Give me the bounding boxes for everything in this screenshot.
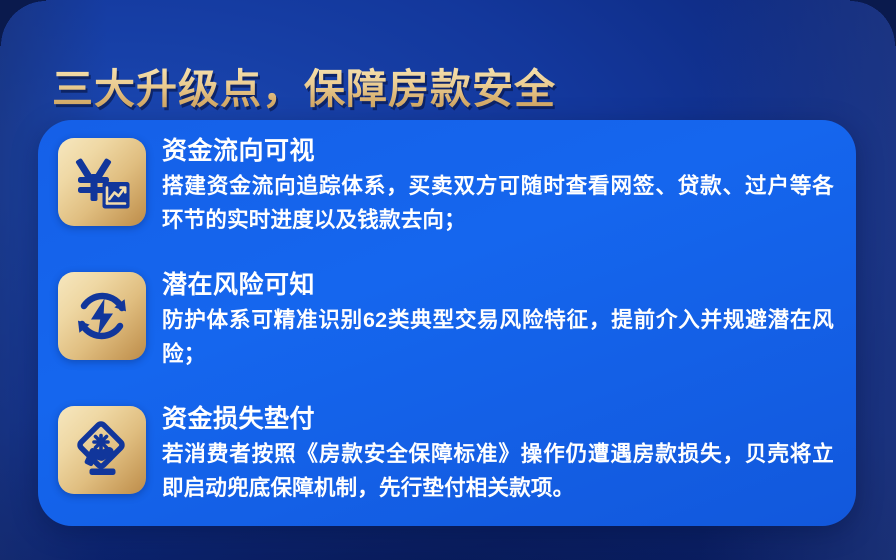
risk-bolt-cycle-icon (58, 272, 146, 360)
feature-heading: 潜在风险可知 (162, 268, 840, 302)
feature-row: 潜在风险可知 防护体系可精准识别62类典型交易风险特征，提前介入并规避潜在风险； (58, 268, 840, 371)
stage-corner-top-right (850, 0, 896, 46)
feature-text: 潜在风险可知 防护体系可精准识别62类典型交易风险特征，提前介入并规避潜在风险； (162, 268, 840, 371)
feature-text: 资金损失垫付 若消费者按照《房款安全保障标准》操作仍遭遇房款损失，贝壳将立即启动… (162, 402, 840, 505)
feature-row: 资金损失垫付 若消费者按照《房款安全保障标准》操作仍遭遇房款损失，贝壳将立即启动… (58, 402, 840, 505)
feature-body: 若消费者按照《房款安全保障标准》操作仍遭遇房款损失，贝壳将立即启动兜底保障机制，… (162, 437, 834, 505)
features-panel: 资金流向可视 搭建资金流向追踪体系，买卖双方可随时查看网签、贷款、过户等各环节的… (38, 120, 856, 526)
feature-row: 资金流向可视 搭建资金流向追踪体系，买卖双方可随时查看网签、贷款、过户等各环节的… (58, 134, 840, 237)
page-title: 三大升级点，保障房款安全 (52, 63, 556, 115)
yuan-chart-icon (58, 138, 146, 226)
stage-corner-top-left (0, 0, 46, 46)
feature-body: 防护体系可精准识别62类典型交易风险特征，提前介入并规避潜在风险； (162, 303, 834, 371)
feature-heading: 资金损失垫付 (162, 402, 840, 436)
feature-body: 搭建资金流向追踪体系，买卖双方可随时查看网签、贷款、过户等各环节的实时进度以及钱… (162, 169, 834, 237)
hand-holding-card-icon (58, 406, 146, 494)
feature-heading: 资金流向可视 (162, 134, 840, 168)
infographic-stage: 三大升级点，保障房款安全 (0, 0, 896, 560)
feature-text: 资金流向可视 搭建资金流向追踪体系，买卖双方可随时查看网签、贷款、过户等各环节的… (162, 134, 840, 237)
